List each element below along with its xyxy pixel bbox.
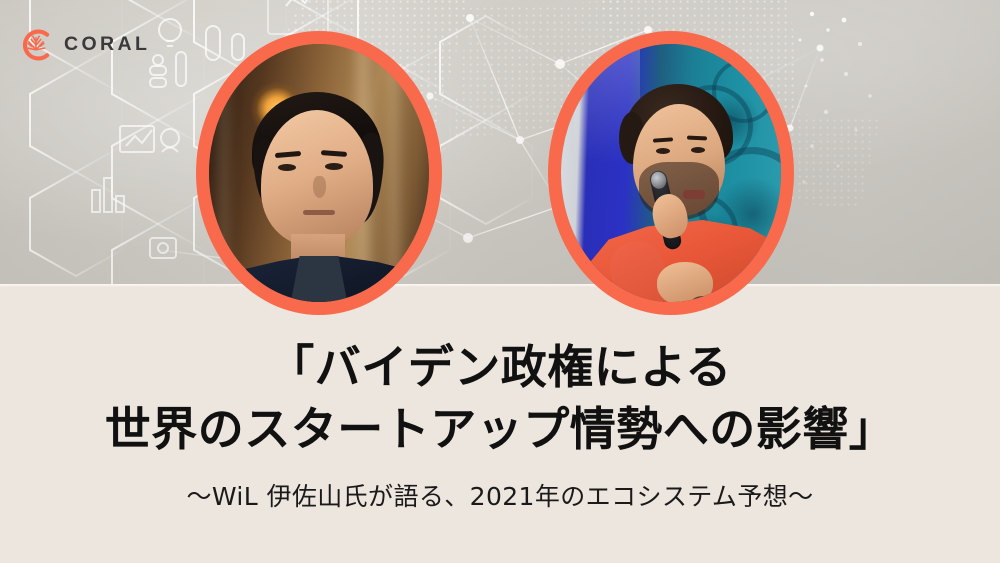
portrait-photo-left [209, 44, 429, 302]
title-line-1: 「バイデン政権による [0, 336, 1000, 398]
panel-seam [0, 284, 1000, 287]
title-line-2: 世界のスタートアップ情勢への影響」 [0, 398, 1000, 460]
portrait-photo-right [561, 44, 781, 302]
subtitle: 〜WiL 伊佐山氏が語る、2021年のエコシステム予想〜 [0, 480, 1000, 514]
speaker-portrait-right [548, 31, 794, 315]
title-block: 「バイデン政権による 世界のスタートアップ情勢への影響」 〜WiL 伊佐山氏が語… [0, 336, 1000, 514]
coral-branch-icon [17, 26, 55, 64]
brand-wordmark: CORAL [64, 35, 150, 55]
event-banner: CORAL [0, 0, 1000, 563]
brand-logo[interactable]: CORAL [17, 26, 150, 64]
speaker-portrait-left [196, 31, 442, 315]
